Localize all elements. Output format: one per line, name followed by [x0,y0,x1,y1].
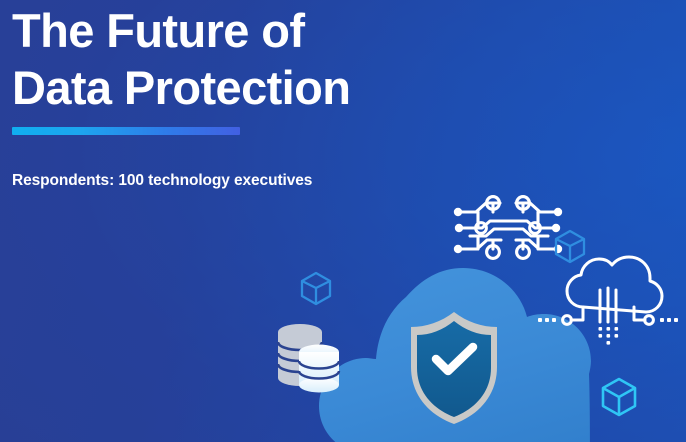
database-stack-icon [278,324,339,393]
cloud-shape [319,268,591,442]
slide-canvas: The Future of Data Protection Respondent… [0,0,686,442]
page-title: The Future of Data Protection [12,2,532,116]
circuit-board-icon [454,197,562,259]
cube-icon-top-right [556,231,584,262]
check-icon [436,347,473,371]
cube-icon-bottom [603,379,635,415]
respondents-label: Respondents: 100 technology executives [12,172,312,190]
security-shield-icon [411,312,497,424]
title-underline-accent [12,127,240,135]
cube-icon-left [302,273,330,304]
cloud-data-icon [538,257,678,345]
